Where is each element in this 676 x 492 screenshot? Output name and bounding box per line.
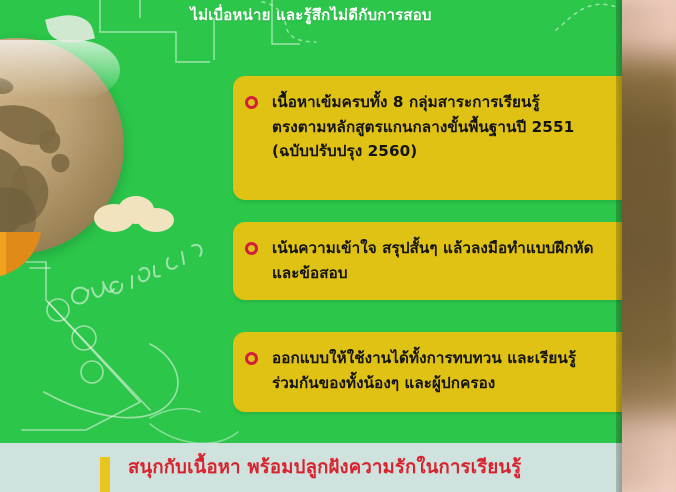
top-banner-text: ไม่เบื่อหน่าย และรู้สึกไม่ดีกับการสอบ — [190, 3, 431, 27]
globe-highlight — [0, 40, 120, 100]
globe-base-colors — [0, 232, 42, 278]
top-banner: ไม่เบื่อหน่าย และรู้สึกไม่ดีกับการสอบ — [0, 0, 622, 30]
poster-screenshot: ไม่เบื่อหน่าย และรู้สึกไม่ดีกับการสอบ เน… — [0, 0, 676, 492]
feature-card-text: เนื้อหาเข้มครบทั้ง 8 กลุ่มสาระการเรียนรู… — [272, 90, 574, 164]
feature-card-line: ออกแบบให้ใช้งานได้ทั้งการทบทวน และเรียนร… — [272, 346, 576, 371]
feature-card: ออกแบบให้ใช้งานได้ทั้งการทบทวน และเรียนร… — [233, 332, 622, 412]
ring-bullet-icon — [245, 96, 258, 109]
feature-card-line: ร่วมกันของทั้งน้องๆ และผู้ปกครอง — [272, 371, 576, 396]
ring-bullet-icon — [245, 352, 258, 365]
bottom-banner-accent-bar — [100, 457, 110, 492]
feature-card-text: ออกแบบให้ใช้งานได้ทั้งการทบทวน และเรียนร… — [272, 346, 576, 395]
feature-card-line: ตรงตามหลักสูตรแกนกลางขั้นพื้นฐานปี 2551 — [272, 115, 574, 140]
feature-card-line: (ฉบับปรับปรุง 2560) — [272, 139, 574, 164]
feature-card: เน้นความเข้าใจ สรุปสั้นๆ แล้วลงมือทำแบบฝ… — [233, 222, 622, 300]
feature-card-line: และข้อสอบ — [272, 261, 594, 286]
feature-card-line: เนื้อหาเข้มครบทั้ง 8 กลุ่มสาระการเรียนรู… — [272, 90, 574, 115]
book-page: ไม่เบื่อหน่าย และรู้สึกไม่ดีกับการสอบ เน… — [0, 0, 622, 492]
ring-bullet-icon — [245, 242, 258, 255]
cloud-shape — [92, 196, 178, 232]
globe-base — [0, 232, 124, 278]
bottom-banner-text: สนุกกับเนื้อหา พร้อมปลูกฝังความรักในการเ… — [128, 443, 521, 492]
page-edge-shadow — [616, 0, 622, 492]
feature-card: เนื้อหาเข้มครบทั้ง 8 กลุ่มสาระการเรียนรู… — [233, 76, 622, 200]
feature-card-text: เน้นความเข้าใจ สรุปสั้นๆ แล้วลงมือทำแบบฝ… — [272, 236, 594, 285]
feature-card-line: เน้นความเข้าใจ สรุปสั้นๆ แล้วลงมือทำแบบฝ… — [272, 236, 594, 261]
